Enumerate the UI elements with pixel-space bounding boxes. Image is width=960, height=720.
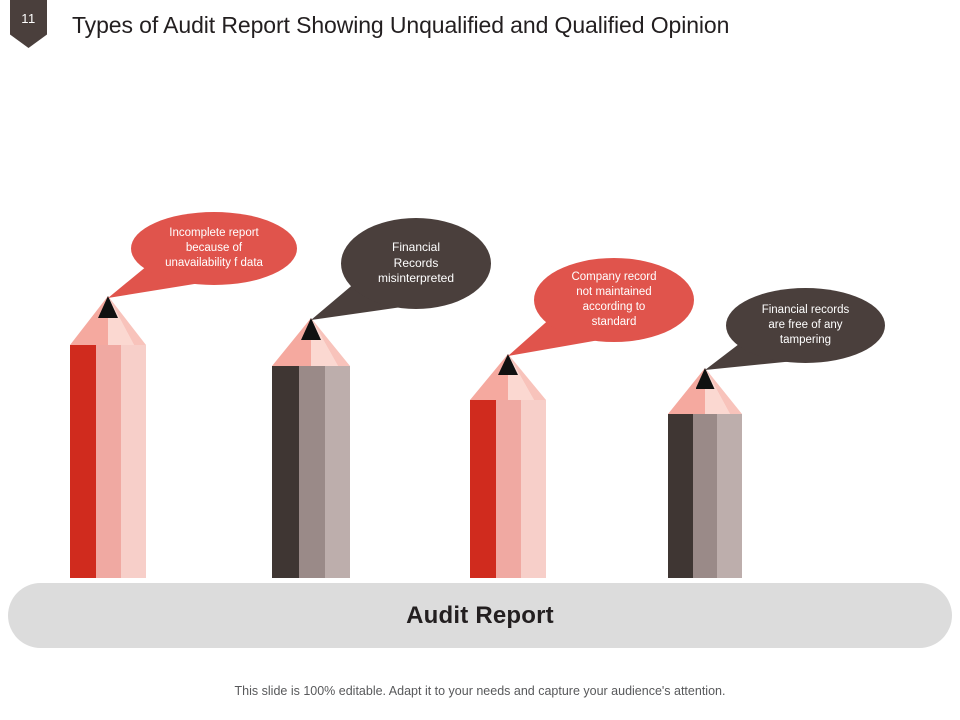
speech-bubble-text: Company record not maintained according … xyxy=(557,270,670,331)
pencil-stripe xyxy=(96,345,121,578)
pencil-stripe xyxy=(299,366,325,578)
speech-bubble-company-record-not-maintained[interactable]: Company record not maintained according … xyxy=(534,258,694,342)
slide-canvas: 11 Types of Audit Report Showing Unquali… xyxy=(0,0,960,720)
pencil-stripe xyxy=(121,345,146,578)
pencil-stripe xyxy=(668,414,693,578)
pencil-stripe xyxy=(693,414,717,578)
pencil-body xyxy=(272,366,350,578)
pencil-stripe xyxy=(70,345,96,578)
pencil-financial-records-free-of-tampering xyxy=(668,368,742,578)
pencil-financial-records-misinterpreted xyxy=(272,318,350,578)
pencil-body xyxy=(668,414,742,578)
header-divider xyxy=(0,59,960,60)
speech-bubble-financial-records-misinterpreted[interactable]: Financial Records misinterpreted xyxy=(341,218,491,309)
pencil-stripe xyxy=(470,400,496,578)
speech-bubble-text: Financial Records misinterpreted xyxy=(364,240,468,287)
pencil-body xyxy=(470,400,546,578)
speech-bubble-incomplete-report[interactable]: Incomplete report because of unavailabil… xyxy=(131,212,297,285)
footer-note: This slide is 100% editable. Adapt it to… xyxy=(0,684,960,698)
pencil-stripe xyxy=(325,366,350,578)
slide-number-label: 11 xyxy=(21,12,36,25)
page-title: Types of Audit Report Showing Unqualifie… xyxy=(72,12,932,39)
bottom-bar[interactable]: Audit Report xyxy=(8,583,952,648)
pencil-stripe xyxy=(521,400,546,578)
pencil-stripe xyxy=(272,366,299,578)
speech-bubble-financial-records-free-of-tampering[interactable]: Financial records are free of any tamper… xyxy=(726,288,885,363)
pencil-company-record-not-maintained xyxy=(470,354,546,578)
pencil-body xyxy=(70,345,146,578)
bottom-bar-label: Audit Report xyxy=(406,602,554,630)
speech-bubble-text: Financial records are free of any tamper… xyxy=(748,303,864,349)
speech-bubble-text: Incomplete report because of unavailabil… xyxy=(151,226,277,272)
slide-number-badge: 11 xyxy=(10,0,47,48)
pencil-incomplete-report xyxy=(70,296,146,578)
pencil-stripe xyxy=(717,414,742,578)
pencil-stripe xyxy=(496,400,521,578)
